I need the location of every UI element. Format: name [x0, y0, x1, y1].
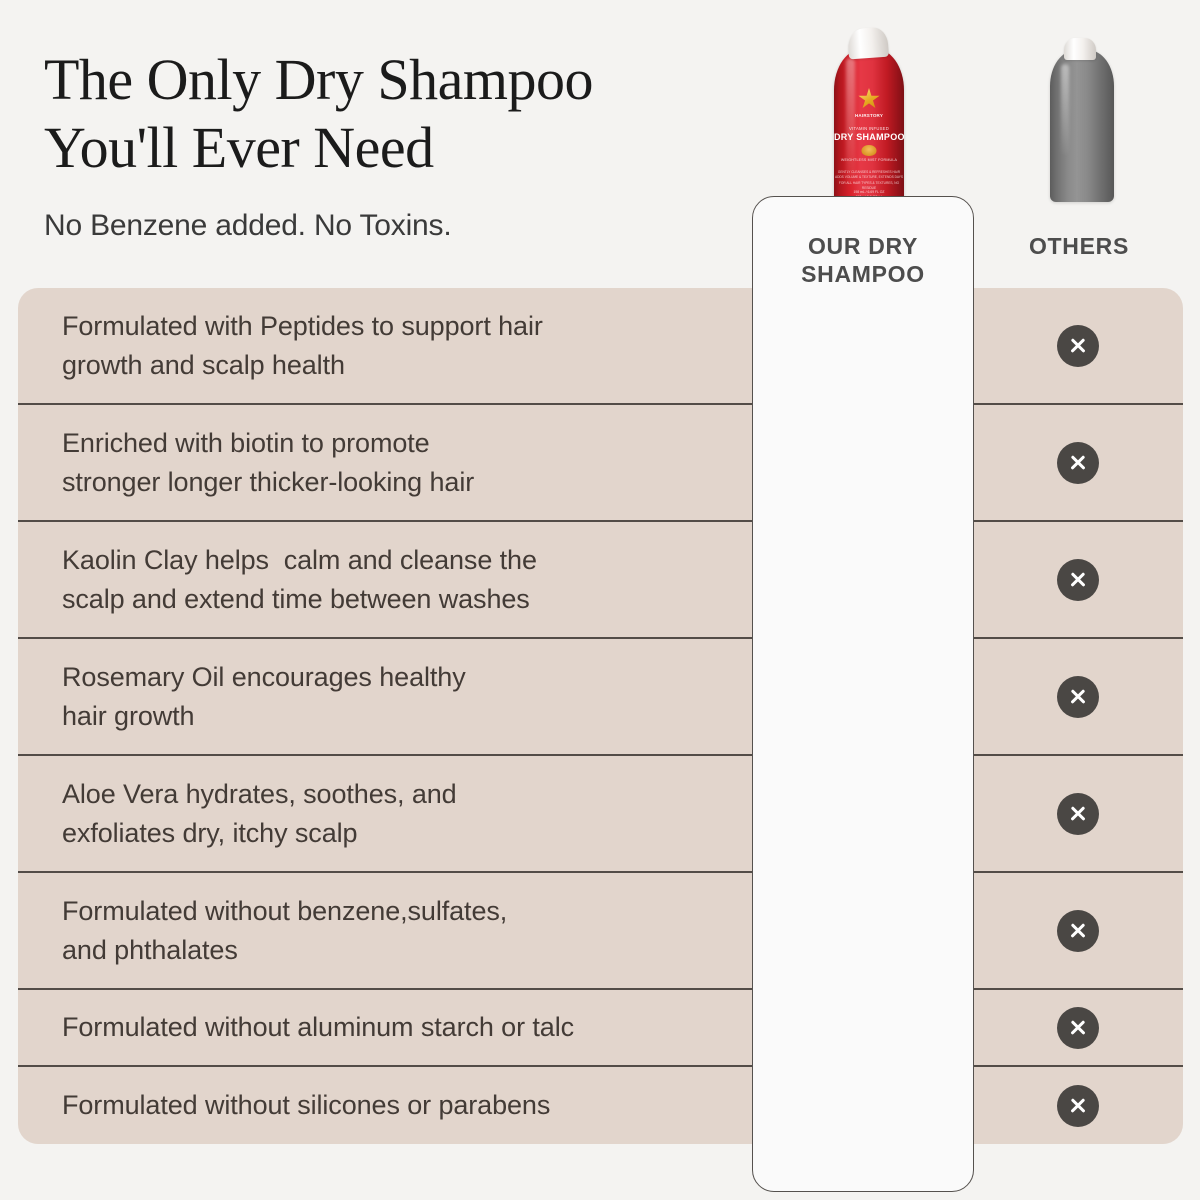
table-row: Formulated with Peptides to support hair…: [18, 288, 1183, 405]
can-gloss-highlight: [1061, 64, 1069, 155]
feature-text: Rosemary Oil encourages healthy hair gro…: [18, 658, 753, 735]
our-product-highlight-card: [752, 196, 974, 1192]
headline-line-1: The Only Dry Shampoo: [44, 47, 593, 112]
page-subtitle: No Benzene added. No Toxins.: [44, 209, 744, 243]
label-formula-line: WEIGHTLESS MIST FORMULA: [834, 158, 904, 162]
our-product-bottle-image: HAIRSTORY VITAMIN INFUSED DRY SHAMPOO WE…: [818, 20, 918, 205]
can-gloss-highlight: [846, 58, 855, 184]
cross-icon: [1057, 910, 1099, 952]
headline-line-2: You'll Ever Need: [44, 115, 434, 180]
label-vitamin-line: VITAMIN INFUSED: [834, 126, 904, 131]
table-row: Formulated without silicones or parabens: [18, 1067, 1183, 1144]
table-row: Enriched with biotin to promote stronger…: [18, 405, 1183, 522]
feature-text: Formulated without aluminum starch or ta…: [18, 1008, 753, 1046]
feature-text: Aloe Vera hydrates, soothes, and exfolia…: [18, 775, 753, 852]
cell-others: [973, 325, 1183, 367]
table-row: Formulated without aluminum starch or ta…: [18, 990, 1183, 1067]
comparison-table: Formulated with Peptides to support hair…: [18, 288, 1183, 1144]
page-title: The Only Dry Shampoo You'll Ever Need: [44, 46, 744, 183]
column-header-ours: OUR DRY SHAMPOO: [760, 232, 966, 288]
cross-icon: [1057, 325, 1099, 367]
cross-icon: [1057, 793, 1099, 835]
cross-icon: [1057, 559, 1099, 601]
cross-icon: [1057, 676, 1099, 718]
label-seal-icon: [862, 145, 877, 156]
gray-spray-can: [1050, 50, 1114, 202]
table-row: Rosemary Oil encourages healthy hair gro…: [18, 639, 1183, 756]
feature-text: Kaolin Clay helps calm and cleanse the s…: [18, 541, 753, 618]
column-header-others: OTHERS: [975, 232, 1183, 260]
table-row: Kaolin Clay helps calm and cleanse the s…: [18, 522, 1183, 639]
gold-star-icon: [858, 88, 880, 110]
feature-text: Enriched with biotin to promote stronger…: [18, 424, 753, 501]
cell-others: [973, 1007, 1183, 1049]
feature-text: Formulated with Peptides to support hair…: [18, 307, 753, 384]
label-product-name: DRY SHAMPOO: [834, 132, 904, 142]
table-row: Aloe Vera hydrates, soothes, and exfolia…: [18, 756, 1183, 873]
cell-others: [973, 793, 1183, 835]
cell-others: [973, 910, 1183, 952]
cell-others: [973, 1085, 1183, 1127]
cell-others: [973, 676, 1183, 718]
cross-icon: [1057, 442, 1099, 484]
cell-others: [973, 442, 1183, 484]
feature-text: Formulated without silicones or parabens: [18, 1086, 753, 1124]
table-row: Formulated without benzene,sulfates, and…: [18, 873, 1183, 990]
brand-wordmark: HAIRSTORY: [855, 113, 883, 118]
others-product-bottle-image: [1032, 28, 1132, 213]
bottle-cap: [847, 27, 889, 60]
page-header: The Only Dry Shampoo You'll Ever Need No…: [44, 46, 744, 243]
label-body-copy: GENTLY CLEANSES & REFRESHES HAIR ADDS VO…: [834, 170, 904, 192]
red-spray-can: HAIRSTORY VITAMIN INFUSED DRY SHAMPOO WE…: [834, 48, 904, 205]
cross-icon: [1057, 1085, 1099, 1127]
cell-others: [973, 559, 1183, 601]
feature-text: Formulated without benzene,sulfates, and…: [18, 892, 753, 969]
cross-icon: [1057, 1007, 1099, 1049]
others-bottle-cap: [1064, 38, 1096, 60]
